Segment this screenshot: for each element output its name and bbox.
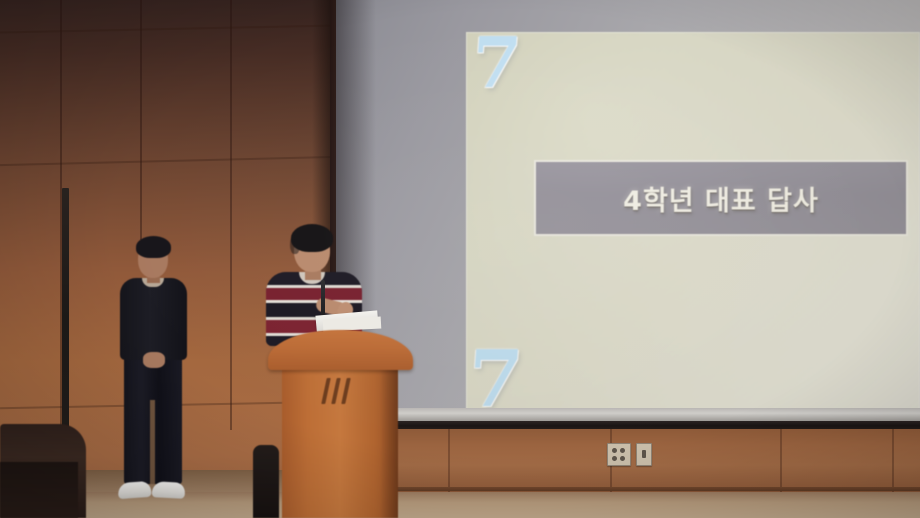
screen-bottom-rail bbox=[336, 408, 920, 421]
dark-chair-seat bbox=[0, 462, 78, 518]
left-person-torso bbox=[120, 278, 187, 360]
podium-body bbox=[282, 364, 398, 518]
presentation-slide: 7 4학년 대표 답사 7 bbox=[466, 32, 920, 412]
left-person-leg-gap bbox=[150, 400, 155, 484]
dado-rail bbox=[336, 487, 920, 491]
photo-scene: 7 4학년 대표 답사 7 bbox=[0, 0, 920, 518]
slide-title-box: 4학년 대표 답사 bbox=[534, 160, 908, 236]
left-person-hair bbox=[136, 236, 171, 258]
wall-dado-shadow bbox=[336, 421, 920, 429]
wooden-podium bbox=[268, 330, 413, 518]
dark-object-behind-podium bbox=[253, 445, 279, 518]
single-switch-plate[interactable] bbox=[636, 443, 652, 466]
duplex-outlet-plate[interactable] bbox=[607, 443, 631, 466]
wall-seam-vertical bbox=[140, 0, 142, 240]
speaker-hair-side bbox=[290, 232, 300, 254]
dado-seam bbox=[892, 429, 894, 495]
left-person-hands bbox=[143, 352, 165, 368]
left-sneaker bbox=[117, 481, 151, 499]
podium-top bbox=[268, 330, 413, 370]
dado-seam bbox=[448, 429, 450, 495]
dado-seam bbox=[780, 429, 782, 495]
seven-numeral-icon: 7 bbox=[470, 34, 521, 91]
wall-seam-vertical bbox=[230, 0, 232, 430]
slide-title: 4학년 대표 답사 bbox=[623, 179, 819, 218]
seven-numeral-icon: 7 bbox=[466, 348, 523, 412]
right-sneaker bbox=[152, 481, 186, 499]
